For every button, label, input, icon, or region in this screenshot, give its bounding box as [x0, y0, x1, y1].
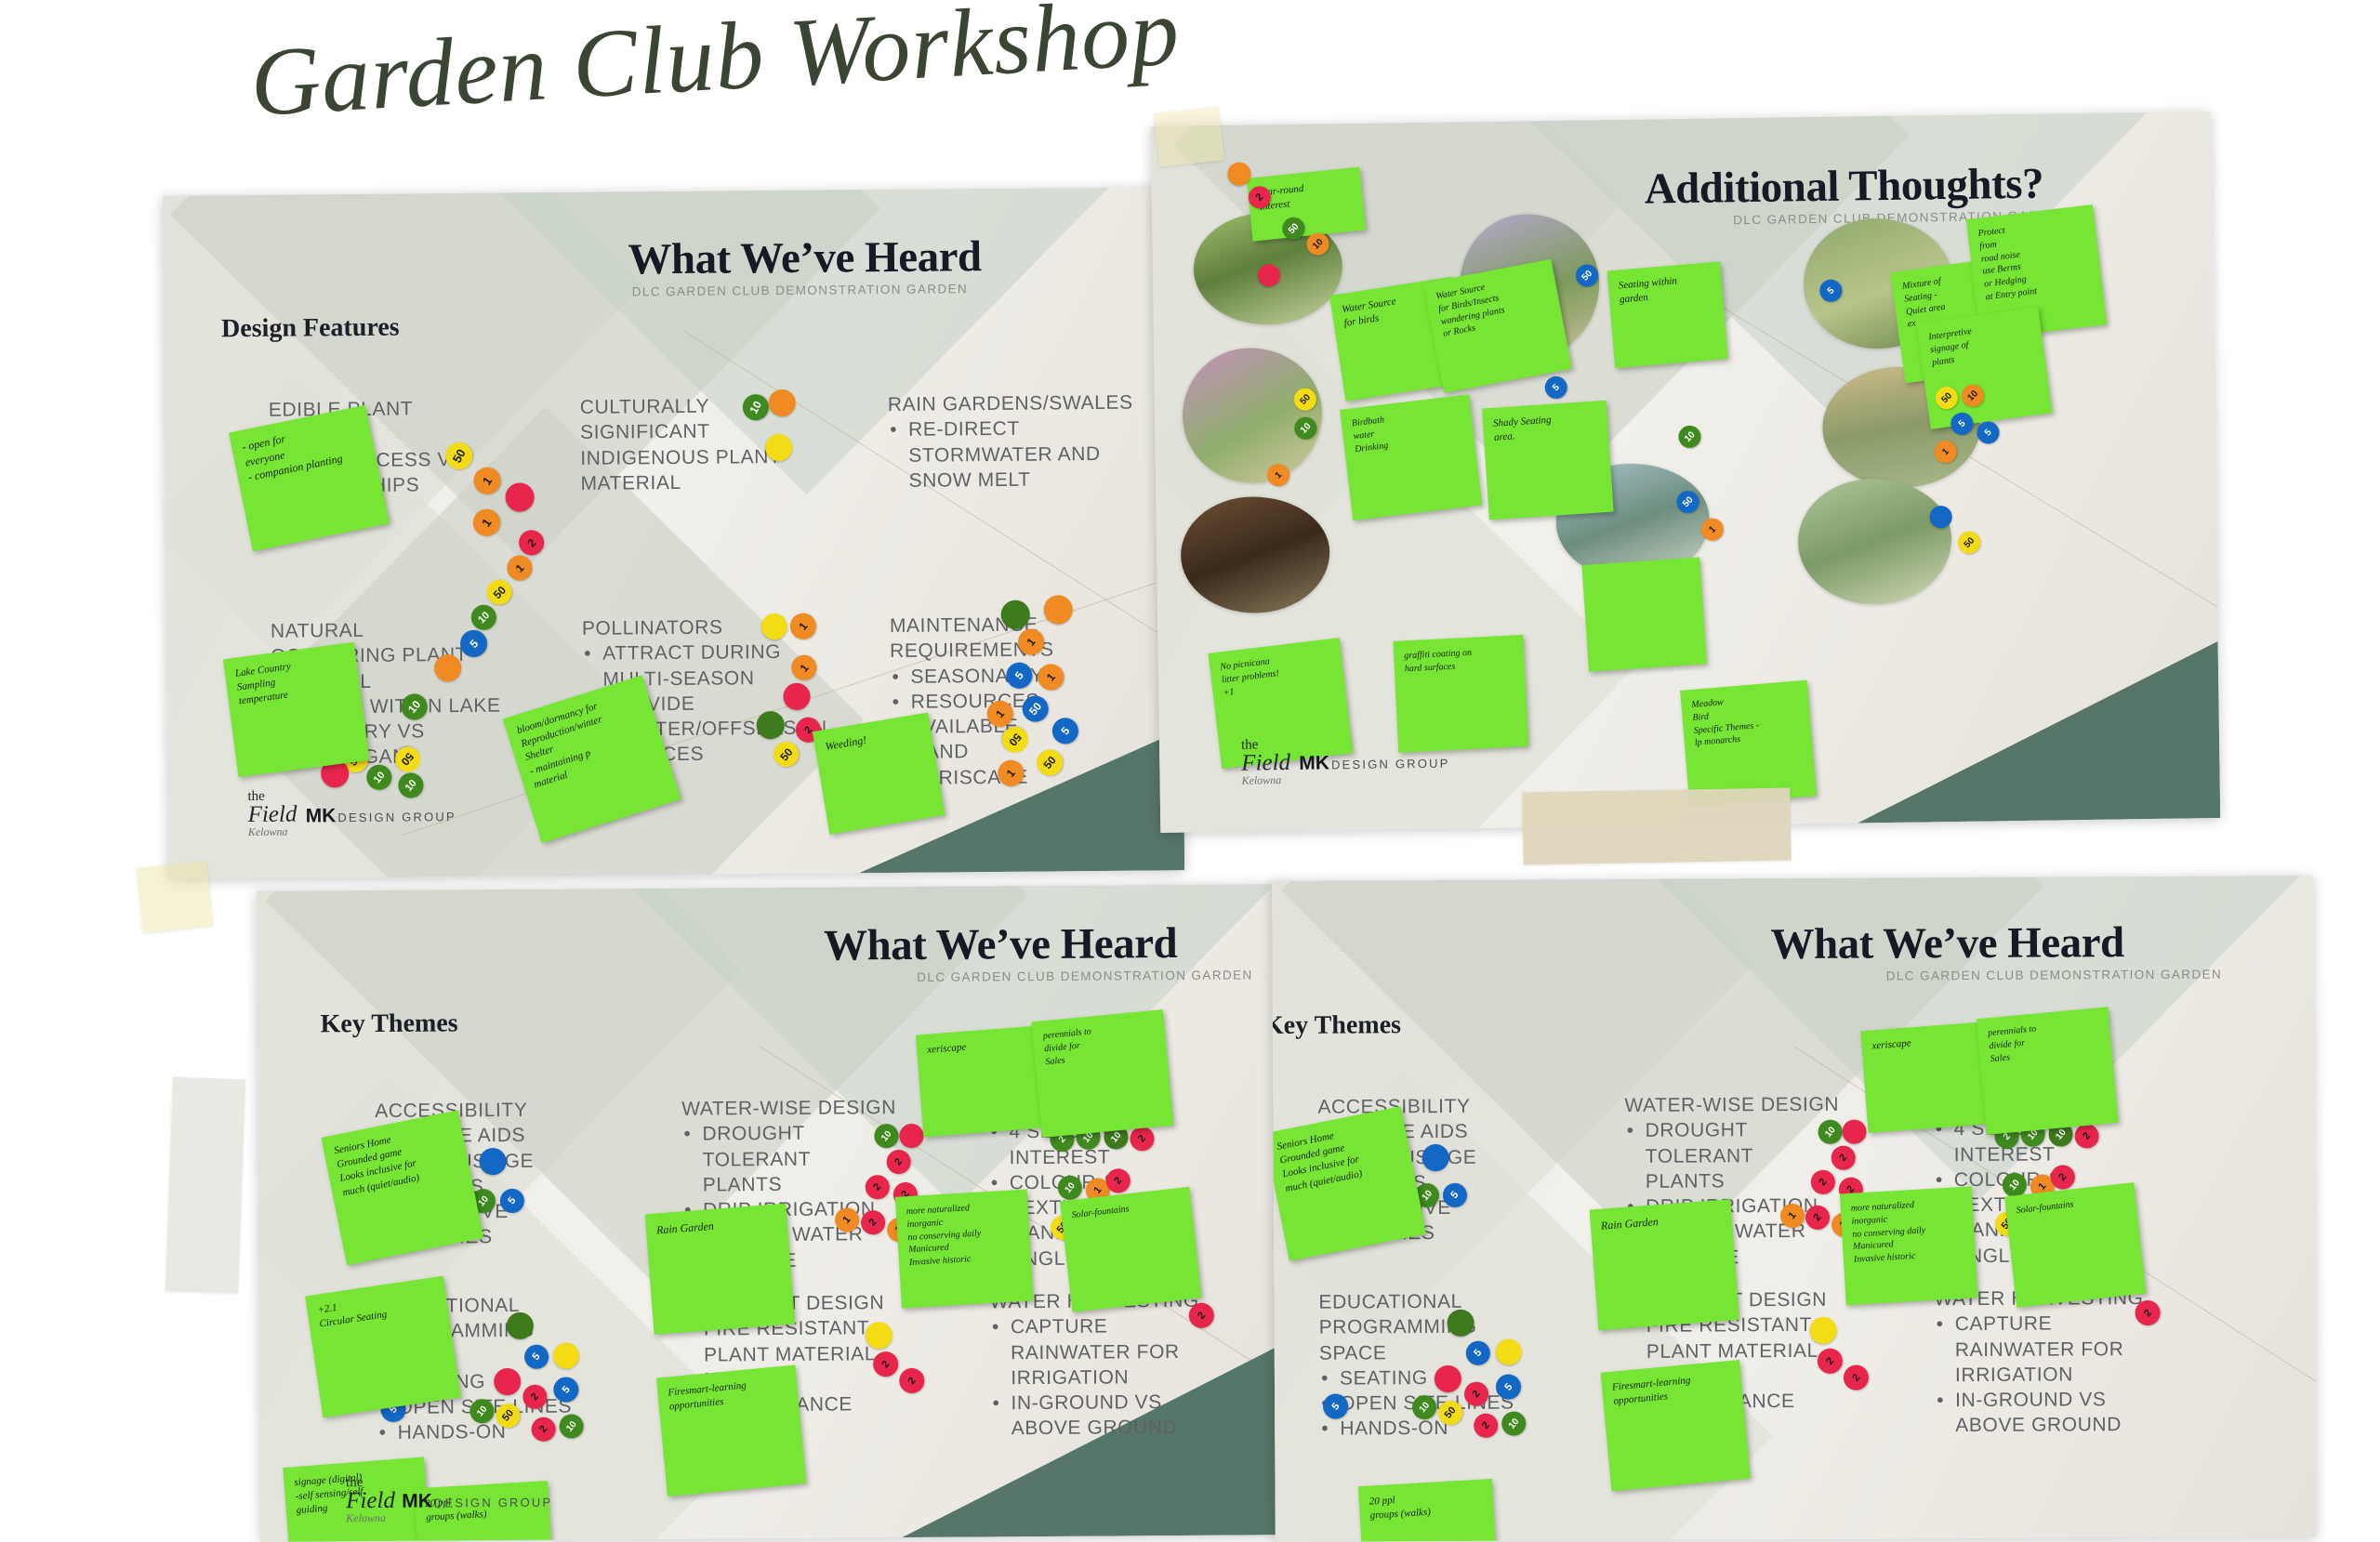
col-bullet: DROUGHT TOLERANT PLANTS	[1646, 1117, 1830, 1194]
poster-key-themes-left[interactable]: What We’ve Heard DLC GARDEN CLUB DEMONST…	[257, 884, 1293, 1542]
sticky-text: Lake Country Sampling temperature	[234, 652, 350, 709]
vote-dot[interactable]	[1435, 1365, 1461, 1392]
sticky-note[interactable]: more naturalized inorganic no conserving…	[895, 1189, 1034, 1308]
col-bullet: DROUGHT TOLERANT PLANTS	[702, 1120, 887, 1197]
tape-strip	[1154, 107, 1224, 167]
sticky-note[interactable]: graffiti coating on hard surfaces	[1393, 635, 1528, 753]
sticky-text: Weeding!	[824, 723, 921, 754]
col-bullet: IN-GROUND VS ABOVE GROUND	[1011, 1390, 1199, 1442]
sticky-text: more naturalized inorganic no conserving…	[906, 1199, 1021, 1270]
logo-design-group: DESIGN GROUP	[337, 810, 456, 824]
sticky-text: Meadow Bird Specific Themes - lp monarch…	[1691, 690, 1802, 750]
vote-dot[interactable]	[434, 654, 461, 681]
sticky-note[interactable]: Weeding!	[813, 712, 945, 834]
poster-design-features[interactable]: What We’ve Heard DLC GARDEN CLUB DEMONST…	[163, 187, 1184, 879]
logo-field: Field	[248, 804, 297, 826]
sticky-note[interactable]: Meadow Bird Specific Themes - lp monarch…	[1680, 680, 1817, 807]
sticky-note[interactable]: Rain Garden	[1590, 1199, 1739, 1330]
sticky-text: Seniors Home Grounded game Looks inclusi…	[1276, 1117, 1403, 1196]
column-rain-gardens: RAIN GARDENS/SWALES RE-DIRECT STORMWATER…	[888, 390, 1126, 494]
logo-script: Kelowna	[248, 825, 297, 837]
sticky-text: xeriscape	[927, 1035, 1030, 1058]
sticky-text: more naturalized inorganic no conserving…	[1850, 1196, 1965, 1267]
vote-dot[interactable]	[1496, 1339, 1522, 1365]
sticky-note[interactable]: Solar-fountains	[1060, 1187, 1202, 1312]
mk-design-group-logo: MK DESIGN GROUP	[306, 804, 456, 827]
sticky-text: Seating within garden	[1618, 271, 1712, 308]
col-bullet: IN-GROUND VS ABOVE GROUND	[1955, 1387, 2144, 1439]
column-water-harvesting: WATER HARVESTING CAPTURE RAINWATER FOR I…	[990, 1288, 1200, 1442]
corner-triangle	[1856, 641, 2221, 823]
col-line: REQUIREMENTS	[890, 637, 1090, 664]
vote-dot[interactable]	[494, 1368, 521, 1395]
col-line: WATER-WISE DESIGN	[1624, 1092, 1829, 1118]
poster-title: What We’ve Heard	[824, 918, 1178, 971]
vote-dot[interactable]	[553, 1342, 579, 1368]
vote-dot[interactable]	[765, 434, 792, 461]
sticky-text: Seniors Home Grounded game Looks inclusi…	[333, 1121, 460, 1200]
sticky-text: +2.1 Circular Seating	[317, 1286, 439, 1332]
page-title: Garden Club Workshop	[247, 0, 1136, 149]
sticky-text: Interpretive signage of plants	[1928, 317, 2035, 369]
sticky-text: graffiti coating on hard surfaces	[1404, 645, 1514, 676]
vote-dot[interactable]	[506, 482, 535, 511]
vote-dot[interactable]	[761, 613, 787, 639]
vote-dot[interactable]	[1842, 1120, 1866, 1144]
section-heading-key-themes: Key Themes	[320, 1008, 457, 1039]
vote-dot[interactable]	[1448, 1310, 1474, 1337]
col-bullet: RE-DIRECT STORMWATER AND SNOW MELT	[908, 415, 1126, 494]
sticky-text: - open for everyone - companion planting	[241, 416, 366, 485]
col-bullet: CAPTURE RAINWATER FOR IRRIGATION	[1955, 1311, 2144, 1388]
sticky-text: Solar-fountains	[1071, 1197, 1182, 1222]
col-line: SPACE	[1319, 1339, 1524, 1365]
vote-dot[interactable]	[1422, 1144, 1449, 1171]
tape-strip	[1522, 787, 1791, 864]
sticky-text: perennials to divide for Sales	[1042, 1020, 1157, 1068]
sticky-text: Rain Garden	[655, 1214, 777, 1238]
sticky-note[interactable]: Solar-fountains	[2004, 1182, 2146, 1308]
sticky-note[interactable]: xeriscape	[916, 1026, 1046, 1138]
poster-subtitle: DLC GARDEN CLUB DEMONSTRATION GARDEN	[917, 968, 1253, 984]
vote-dot[interactable]	[1810, 1317, 1837, 1344]
sticky-text: Birdbath water Drinking	[1351, 404, 1464, 455]
sticky-text: Rain Garden	[1600, 1209, 1722, 1233]
poster-additional-thoughts[interactable]: Additional Thoughts? DLC GARDEN CLUB DEM…	[1151, 112, 2221, 833]
vote-dot[interactable]	[783, 683, 810, 710]
sticky-text: perennials to divide for Sales	[1988, 1017, 2102, 1065]
sticky-text: No picnicana litter problems! +1	[1220, 648, 1335, 699]
logo-field: Field	[1241, 752, 1290, 774]
sticky-text: Protect from road noise use Berms or Hed…	[1977, 215, 2093, 304]
mk-design-group-logo: MK DESIGN GROUP	[1299, 751, 1450, 775]
vote-dot[interactable]	[480, 1148, 507, 1175]
vote-dot[interactable]	[1001, 600, 1030, 629]
sticky-text: Shady Seating area.	[1493, 410, 1599, 445]
logo-script: Kelowna	[1241, 774, 1290, 786]
sticky-note[interactable]: +2.1 Circular Seating	[305, 1276, 461, 1417]
col-line: MATERIAL	[580, 469, 794, 496]
sticky-note[interactable]: Firesmart-learning opportunities	[1601, 1360, 1751, 1491]
column-water-harvesting: WATER HARVESTING CAPTURE RAINWATER FOR I…	[1934, 1285, 2144, 1439]
sticky-note[interactable]: Rain Garden	[645, 1204, 796, 1335]
sticky-note[interactable]: perennials to divide for Sales	[1977, 1007, 2119, 1135]
poster-title: Additional Thoughts?	[1644, 159, 2043, 215]
sticky-text: xeriscape	[1871, 1032, 1975, 1053]
sticky-note[interactable]: more naturalized inorganic no conserving…	[1840, 1186, 1978, 1305]
sticky-text: Year-round interest	[1258, 178, 1354, 215]
poster-subtitle: DLC GARDEN CLUB DEMONSTRATION GARDEN	[632, 282, 969, 298]
col-line: WATER-WISE DESIGN	[681, 1095, 886, 1122]
the-field-logo: the Field Kelowna	[346, 1476, 395, 1523]
sticky-note[interactable]: Firesmart-learning opportunities	[656, 1365, 806, 1497]
sticky-note[interactable]: Shady Seating area.	[1482, 401, 1614, 521]
logo-mk: MK	[1299, 752, 1329, 774]
sticky-note[interactable]: perennials to divide for Sales	[1031, 1009, 1173, 1138]
vote-dot[interactable]	[899, 1124, 923, 1148]
poster-title: What We’ve Heard	[628, 231, 982, 284]
sticky-text: Firesmart-learning opportunities	[1612, 1370, 1733, 1409]
vote-dot[interactable]	[1044, 595, 1073, 624]
logo-mk: MK	[306, 805, 337, 827]
tape-strip	[165, 1077, 245, 1294]
sticky-text: Solar-fountains	[2016, 1193, 2126, 1218]
col-line: EDUCATIONAL	[1318, 1289, 1523, 1315]
the-field-logo: the Field Kelowna	[1241, 738, 1290, 785]
sticky-note[interactable]: Seniors Home Grounded game Looks inclusi…	[321, 1110, 483, 1265]
col-bullet: CAPTURE RAINWATER FOR IRRIGATION	[1011, 1313, 1200, 1390]
the-field-logo: the Field Kelowna	[247, 790, 297, 837]
col-line: PROGRAMMING	[1319, 1314, 1524, 1340]
vote-dot[interactable]	[757, 711, 785, 739]
vote-dot[interactable]	[866, 1322, 892, 1349]
logo-design-group: DESIGN GROUP	[434, 1496, 553, 1510]
sticky-text: 20 ppl groups (walks)	[1368, 1489, 1484, 1523]
poster-subtitle: DLC GARDEN CLUB DEMONSTRATION GARDEN	[1886, 968, 2223, 983]
vote-dot[interactable]	[769, 389, 796, 416]
logo-design-group: DESIGN GROUP	[1331, 757, 1450, 772]
sticky-text: Water Source for Birds/Insects wandering…	[1435, 270, 1552, 341]
sticky-note[interactable]: Interpretive signage of plants	[1916, 307, 2052, 429]
poster-title: What We’ve Heard	[1770, 917, 2123, 969]
logo-mk: MK	[402, 1491, 432, 1513]
sticky-note[interactable]	[1581, 558, 1706, 672]
logo-script: Kelowna	[346, 1512, 395, 1523]
section-heading-design-features: Design Features	[221, 313, 400, 345]
sticky-note[interactable]: 20 ppl groups (walks)	[1358, 1479, 1498, 1542]
vote-dot[interactable]	[507, 1312, 534, 1339]
tape-strip	[137, 861, 214, 933]
sticky-note[interactable]: Lake Country Sampling temperature	[223, 642, 369, 777]
col-line: SIGNIFICANT	[580, 418, 794, 445]
sticky-note[interactable]: Seniors Home Grounded game Looks inclusi…	[1272, 1106, 1426, 1261]
logo-field: Field	[346, 1490, 395, 1512]
col-line: INDIGENOUS PLANT	[580, 443, 794, 470]
sticky-note[interactable]: xeriscape	[1860, 1021, 1990, 1133]
sticky-note[interactable]: Seating within garden	[1606, 261, 1727, 368]
poster-key-themes-right[interactable]: What We’ve Heard DLC GARDEN CLUB DEMONST…	[1272, 876, 2317, 1542]
mk-design-group-logo: MK DESIGN GROUP	[402, 1490, 552, 1513]
section-heading-key-themes: Key Themes	[1272, 1010, 1401, 1041]
sticky-text: Firesmart-learning opportunities	[668, 1376, 788, 1415]
sticky-note[interactable]: Birdbath water Drinking	[1340, 394, 1482, 521]
col-line: RAIN GARDENS/SWALES	[888, 390, 1125, 418]
